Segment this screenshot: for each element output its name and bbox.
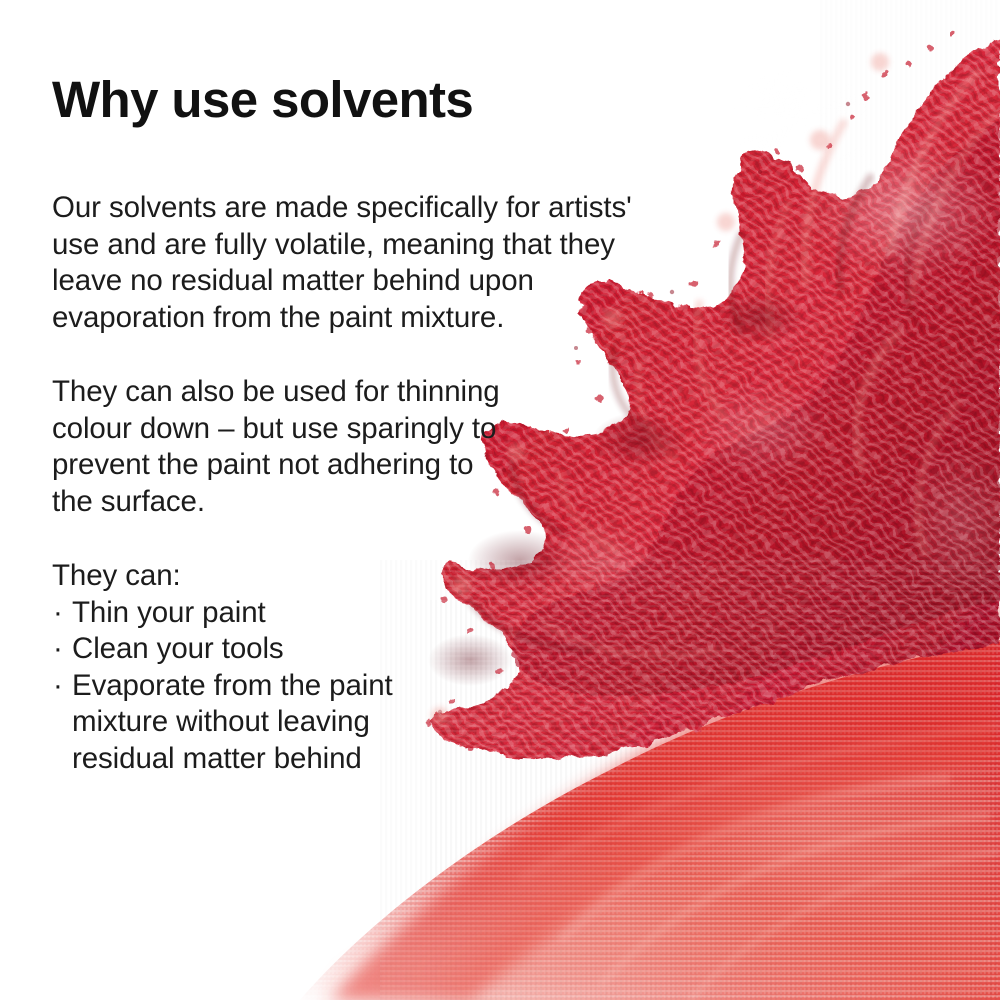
text-content-layer: Why use solvents Our solvents are made s… bbox=[0, 0, 1000, 1000]
paragraph-one: Our solvents are made specifically for a… bbox=[52, 190, 652, 336]
list-item-text: Thin your paint bbox=[72, 595, 502, 632]
paragraph-two-line-3: prevent the paint not adhering to bbox=[52, 447, 572, 484]
paragraph-two: They can also be used for thinning colou… bbox=[52, 374, 572, 520]
paragraph-two-line-2: colour down – but use sparingly to bbox=[52, 411, 572, 448]
list-item-text: Evaporate from the paint mixture without… bbox=[72, 668, 502, 778]
paragraph-one-line-4: evaporation from the paint mixture. bbox=[52, 300, 652, 337]
poster-canvas: Why use solvents Our solvents are made s… bbox=[0, 0, 1000, 1000]
list-item: · Clean your tools bbox=[52, 631, 502, 668]
page-title: Why use solvents bbox=[52, 72, 473, 127]
paragraph-two-line-4: the surface. bbox=[52, 484, 572, 521]
list-item-line: Thin your paint bbox=[72, 595, 502, 632]
paragraph-one-line-1: Our solvents are made specifically for a… bbox=[52, 190, 652, 227]
list-item-line: mixture without leaving bbox=[72, 704, 502, 741]
list-item: · Thin your paint bbox=[52, 595, 502, 632]
paragraph-one-line-2: use and are fully volatile, meaning that… bbox=[52, 227, 652, 264]
list-intro-label: They can: bbox=[52, 558, 502, 595]
list-item-text: Clean your tools bbox=[72, 631, 502, 668]
list-item-line: residual matter behind bbox=[72, 741, 502, 778]
bullet-dot-icon: · bbox=[53, 595, 63, 632]
list-item-line: Evaporate from the paint bbox=[72, 668, 502, 705]
paragraph-two-line-1: They can also be used for thinning bbox=[52, 374, 572, 411]
bullet-dot-icon: · bbox=[53, 631, 63, 668]
list-item-line: Clean your tools bbox=[72, 631, 502, 668]
paragraph-one-line-3: leave no residual matter behind upon bbox=[52, 263, 652, 300]
benefits-list: · Thin your paint · Clean your tools · E… bbox=[52, 595, 502, 778]
bullet-dot-icon: · bbox=[53, 668, 63, 705]
benefits-list-block: They can: · Thin your paint · Clean your… bbox=[52, 558, 502, 777]
list-item: · Evaporate from the paint mixture witho… bbox=[52, 668, 502, 778]
